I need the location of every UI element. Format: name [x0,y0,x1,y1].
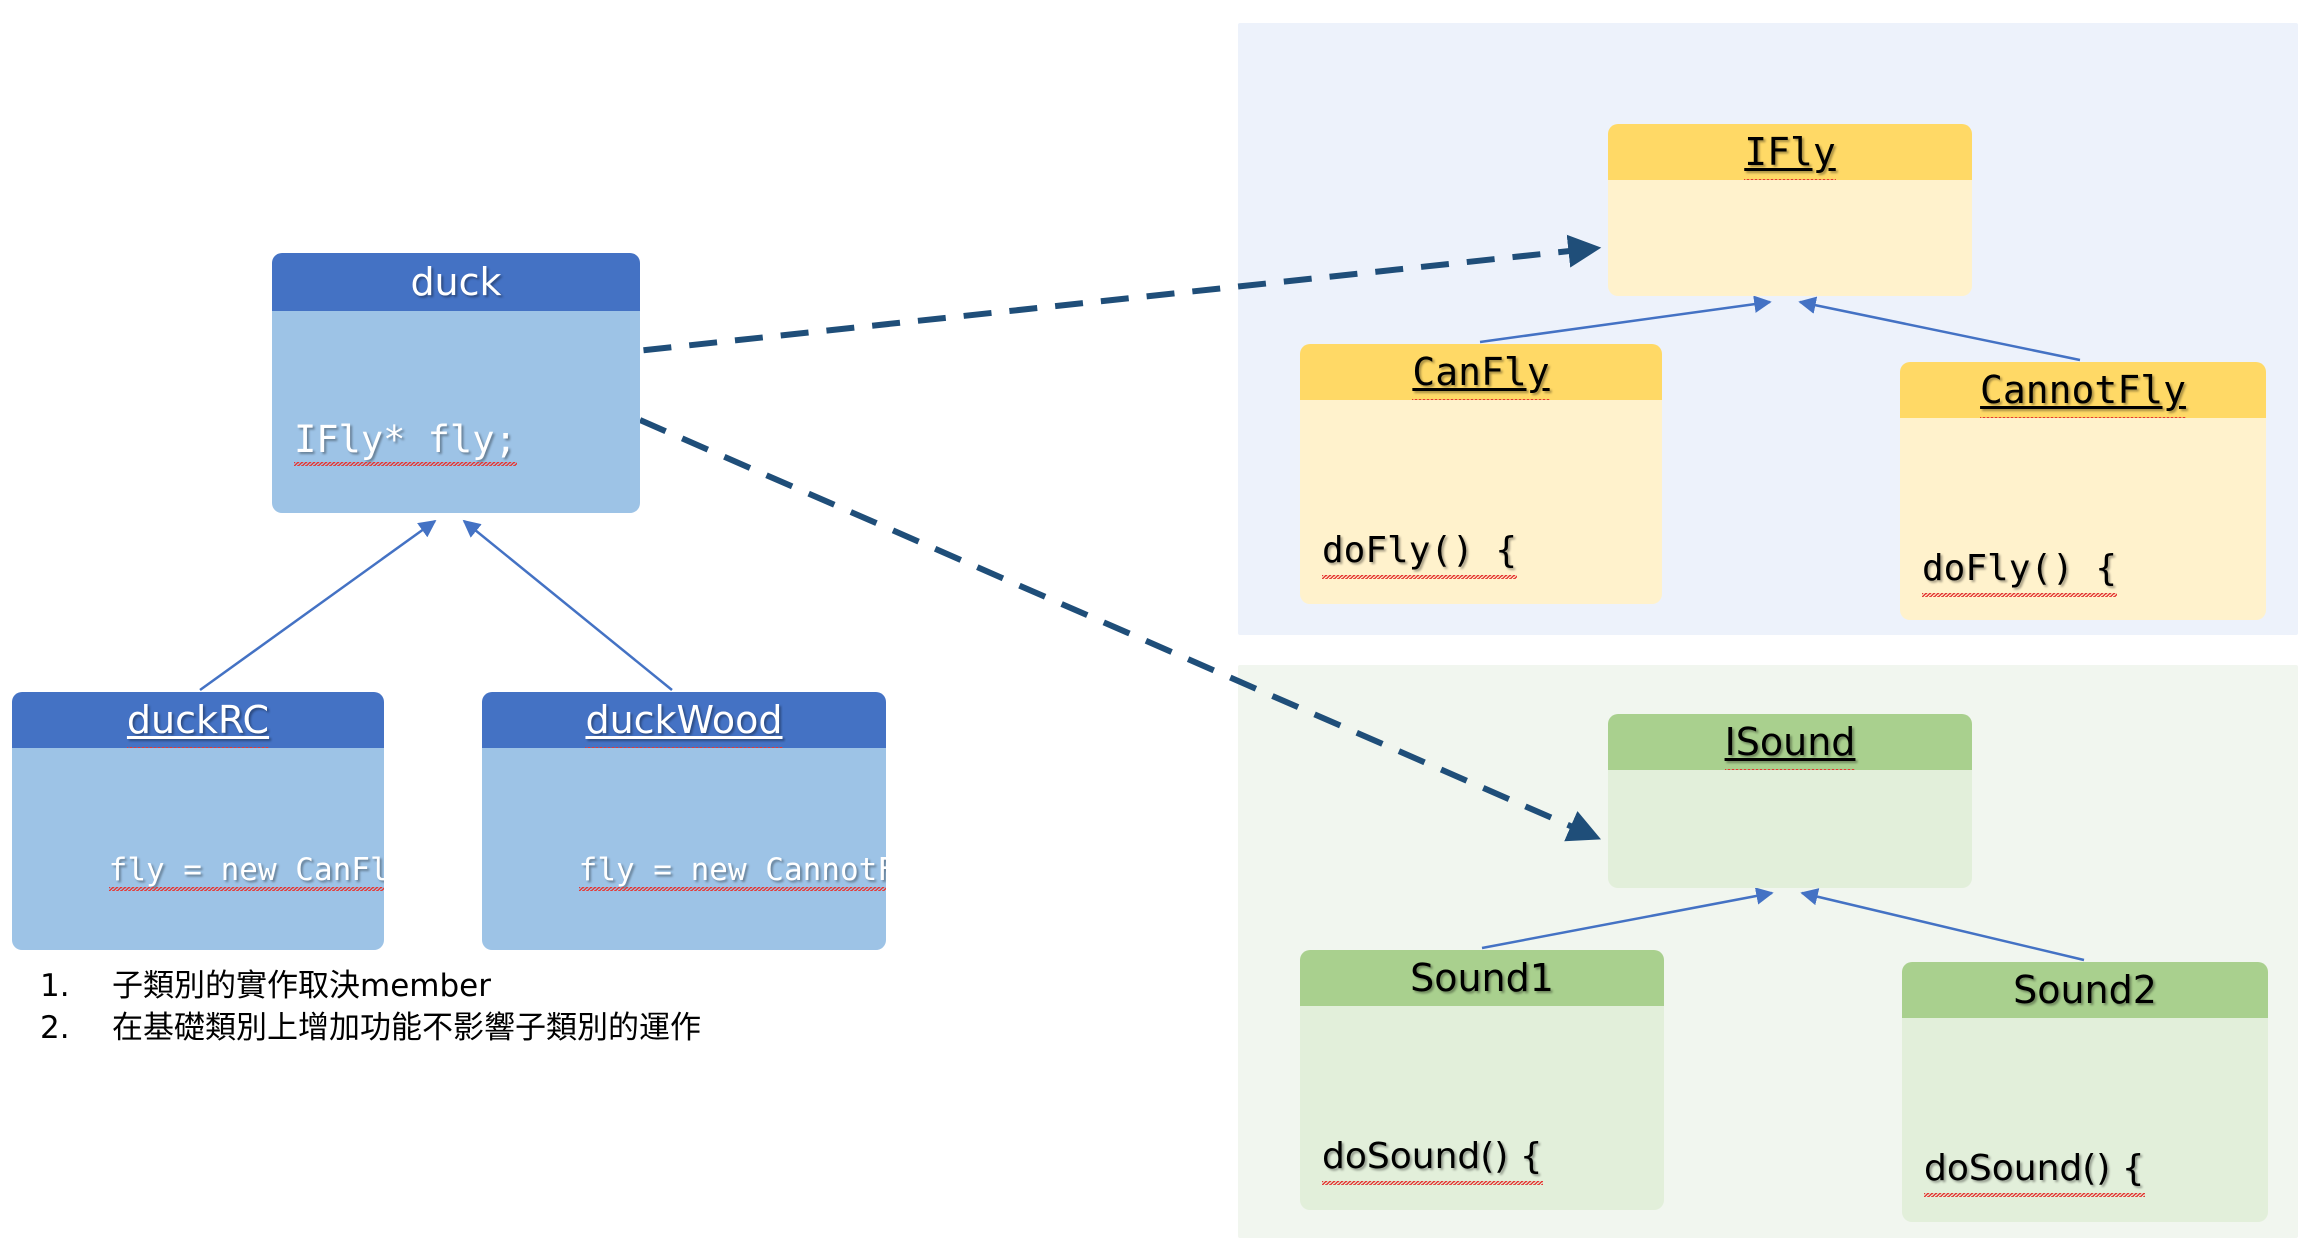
class-members-canfly: doFly() { “Can fly” } [1300,400,1662,604]
list-item: 2. 在基礎類別上增加功能不影響子類別的運作 [40,1007,860,1049]
class-members-sound1: doSound() { “Sound1” } [1300,1006,1664,1210]
class-members-isound: doSound() … [1608,770,1972,888]
class-title-duckwood: duckWood [482,692,886,748]
class-members-duck: IFly* fly; Isound* sound; … [272,311,640,513]
class-title-ifly: IFly [1608,124,1972,180]
class-box-sound2[interactable]: Sound2 doSound() { “Sound2” } [1902,962,2268,1222]
member-isound-line1: doSound() [1628,884,1820,888]
class-title-isound: ISound [1608,714,1972,770]
note-text: 在基礎類別上增加功能不影響子類別的運作 [112,1007,860,1049]
member-duckwood-line1: fly = new CannotFly() [579,852,886,888]
class-box-ifly[interactable]: IFly doFly() … [1608,124,1972,296]
class-title-cannotfly: CannotFly [1900,362,2266,418]
member-duckrc-line1: fly = new CanFly() [109,852,384,888]
class-members-cannotfly: doFly() { “Cannot fly” } [1900,418,2266,620]
class-box-sound1[interactable]: Sound1 doSound() { “Sound1” } [1300,950,1664,1210]
member-canfly-line1: doFly() { [1322,526,1517,576]
connector-duckrc-to-duck [200,521,435,690]
class-box-duckrc[interactable]: duckRC fly = new CanFly() [12,692,384,950]
connector-duckwood-to-duck [464,521,672,690]
class-box-isound[interactable]: ISound doSound() … [1608,714,1972,888]
class-box-canfly[interactable]: CanFly doFly() { “Can fly” } [1300,344,1662,604]
class-members-duckrc: fly = new CanFly() [12,748,384,950]
notes-list: 1. 子類別的實作取決member 2. 在基礎類別上增加功能不影響子類別的運作 [40,965,860,1049]
member-sound1-line1: doSound() { [1322,1132,1543,1182]
class-members-duckwood: fly = new CannotFly() [482,748,886,950]
class-title-sound1: Sound1 [1300,950,1664,1006]
class-members-sound2: doSound() { “Sound2” } [1902,1018,2268,1222]
member-cannotfly-line1: doFly() { [1922,544,2117,594]
class-box-duckwood[interactable]: duckWood fly = new CannotFly() [482,692,886,950]
class-title-canfly: CanFly [1300,344,1662,400]
note-number: 1. [40,965,112,1007]
note-text: 子類別的實作取決member [112,965,860,1007]
note-number: 2. [40,1007,112,1049]
class-box-cannotfly[interactable]: CannotFly doFly() { “Cannot fly” } [1900,362,2266,620]
class-title-duck: duck [272,253,640,311]
class-members-ifly: doFly() … [1608,180,1972,296]
member-duck-line1: IFly* fly; [294,417,517,463]
class-title-sound2: Sound2 [1902,962,2268,1018]
member-sound2-line1: doSound() { [1924,1144,2145,1194]
class-box-duck[interactable]: duck IFly* fly; Isound* sound; … [272,253,640,513]
member-ifly-line1: doFly() [1628,294,1756,296]
class-title-duckrc: duckRC [12,692,384,748]
list-item: 1. 子類別的實作取決member [40,965,860,1007]
